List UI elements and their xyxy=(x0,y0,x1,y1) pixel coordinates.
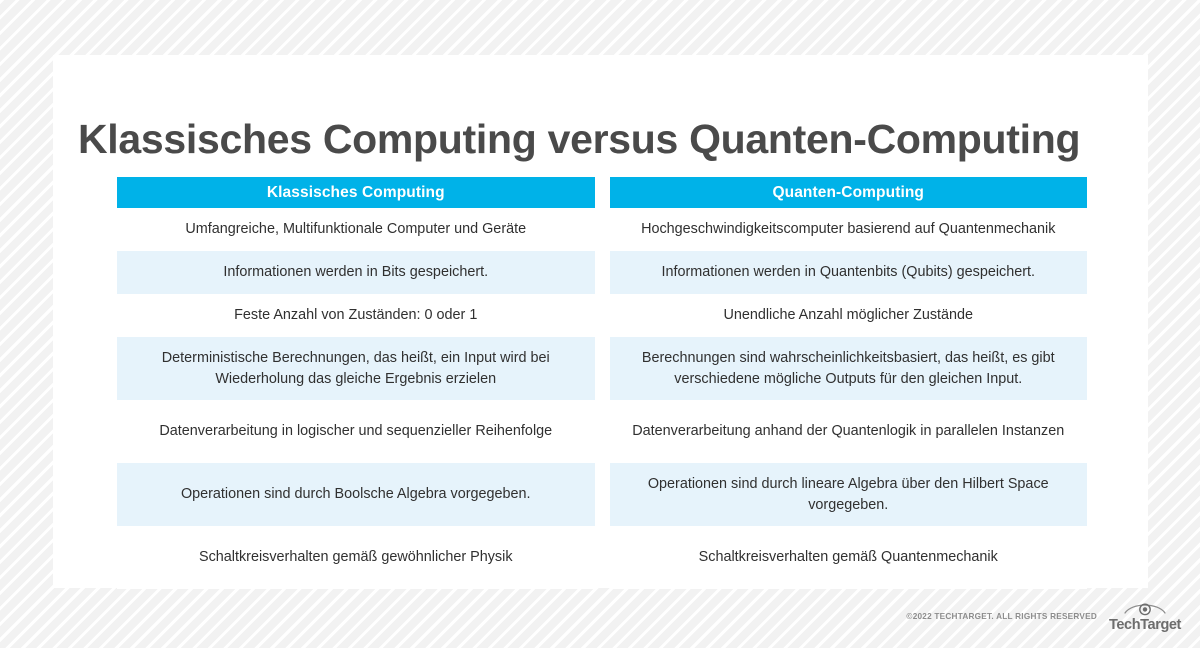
table-cell: Operationen sind durch lineare Algebra ü… xyxy=(610,463,1088,526)
table-cell: Informationen werden in Bits gespeichert… xyxy=(117,251,595,294)
page-title: Klassisches Computing versus Quanten-Com… xyxy=(78,118,1138,161)
table-cell: Feste Anzahl von Zuständen: 0 oder 1 xyxy=(117,294,595,337)
column-header-classical: Klassisches Computing xyxy=(117,177,595,208)
slide-canvas: Klassisches Computing versus Quanten-Com… xyxy=(0,0,1200,648)
footer: ©2022 TECHTARGET. ALL RIGHTS RESERVED Te… xyxy=(0,598,1200,648)
table-cell: Unendliche Anzahl möglicher Zustände xyxy=(610,294,1088,337)
table-cell: Umfangreiche, Multifunktionale Computer … xyxy=(117,208,595,251)
copyright-text: ©2022 TECHTARGET. ALL RIGHTS RESERVED xyxy=(906,612,1097,621)
eye-icon xyxy=(1123,600,1167,617)
table-cell: Deterministische Berechnungen, das heißt… xyxy=(117,337,595,400)
column-quantum: Quanten-Computing Hochgeschwindigkeitsco… xyxy=(610,177,1088,589)
column-classical: Klassisches Computing Umfangreiche, Mult… xyxy=(117,177,595,589)
table-cell: Schaltkreisverhalten gemäß Quantenmechan… xyxy=(610,526,1088,589)
techtarget-wordmark: TechTarget xyxy=(1102,618,1188,633)
table-cell: Schaltkreisverhalten gemäß gewöhnlicher … xyxy=(117,526,595,589)
table-cell: Hochgeschwindigkeitscomputer basierend a… xyxy=(610,208,1088,251)
table-cell: Berechnungen sind wahrscheinlichkeitsbas… xyxy=(610,337,1088,400)
table-cell: Datenverarbeitung anhand der Quantenlogi… xyxy=(610,400,1088,463)
table-cell: Operationen sind durch Boolsche Algebra … xyxy=(117,463,595,526)
content-card: Klassisches Computing versus Quanten-Com… xyxy=(53,55,1148,588)
column-header-quantum: Quanten-Computing xyxy=(610,177,1088,208)
table-cell: Datenverarbeitung in logischer und seque… xyxy=(117,400,595,463)
comparison-table: Klassisches Computing Umfangreiche, Mult… xyxy=(117,177,1087,589)
table-cell: Informationen werden in Quantenbits (Qub… xyxy=(610,251,1088,294)
techtarget-logo: TechTarget xyxy=(1102,600,1188,640)
